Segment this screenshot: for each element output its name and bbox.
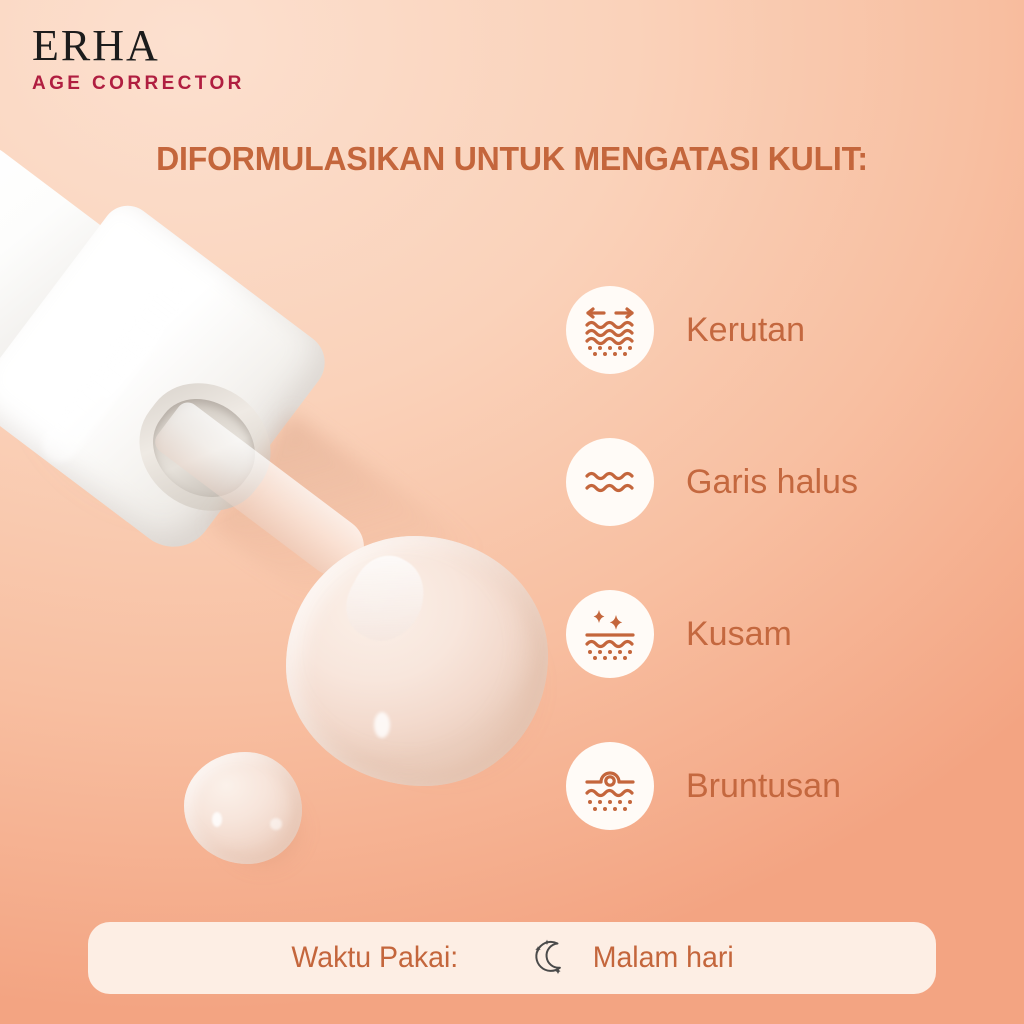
list-item: Garis halus	[566, 436, 986, 528]
usage-time-label: Waktu Pakai:	[291, 941, 458, 975]
benefit-label: Garis halus	[686, 463, 858, 502]
skin-bumps-icon	[566, 742, 654, 830]
serum-droplet-small-highlight-b	[270, 818, 282, 830]
dropper-cap-rim	[116, 359, 295, 536]
wrinkle-arrows-icon	[566, 286, 654, 374]
brand-logo: ERHA AGE CORRECTOR	[32, 24, 245, 93]
serum-droplet-small-shadow	[202, 772, 324, 888]
benefit-label: Bruntusan	[686, 767, 841, 806]
serum-droplet-small-highlight-a	[212, 812, 222, 827]
brand-name: ERHA	[32, 24, 245, 68]
dropper-cap-highlight	[36, 279, 191, 469]
dropper-cap-body	[0, 195, 337, 562]
benefit-label: Kusam	[686, 615, 792, 654]
dullness-sparkle-icon	[566, 590, 654, 678]
serum-droplet-large-shadow	[308, 558, 578, 814]
serum-droplet-small	[184, 752, 302, 864]
benefits-list: Kerutan Garis halus	[566, 284, 986, 832]
serum-droplet-large	[286, 536, 548, 786]
list-item: Bruntusan	[566, 740, 986, 832]
glass-pipette	[151, 398, 376, 588]
pipette-tip	[334, 544, 438, 654]
benefit-label: Kerutan	[686, 311, 805, 350]
brand-product-line: AGE CORRECTOR	[32, 74, 245, 93]
poster-canvas: ERHA AGE CORRECTOR DIFORMULASIKAN UNTUK …	[0, 0, 1024, 1024]
dropper-cap-rim-inner	[135, 380, 273, 516]
dropper-cap-shadow	[0, 167, 383, 629]
page-title: DIFORMULASIKAN UNTUK MENGATASI KULIT:	[15, 140, 1008, 178]
list-item: Kusam	[566, 588, 986, 680]
fine-lines-icon	[566, 438, 654, 526]
list-item: Kerutan	[566, 284, 986, 376]
crescent-moon-icon	[525, 935, 571, 981]
usage-time-bar: Waktu Pakai: Malam hari	[88, 922, 936, 994]
usage-time-value: Malam hari	[592, 941, 733, 975]
serum-droplet-large-highlight	[374, 712, 390, 738]
pipette-shadow	[210, 413, 486, 667]
